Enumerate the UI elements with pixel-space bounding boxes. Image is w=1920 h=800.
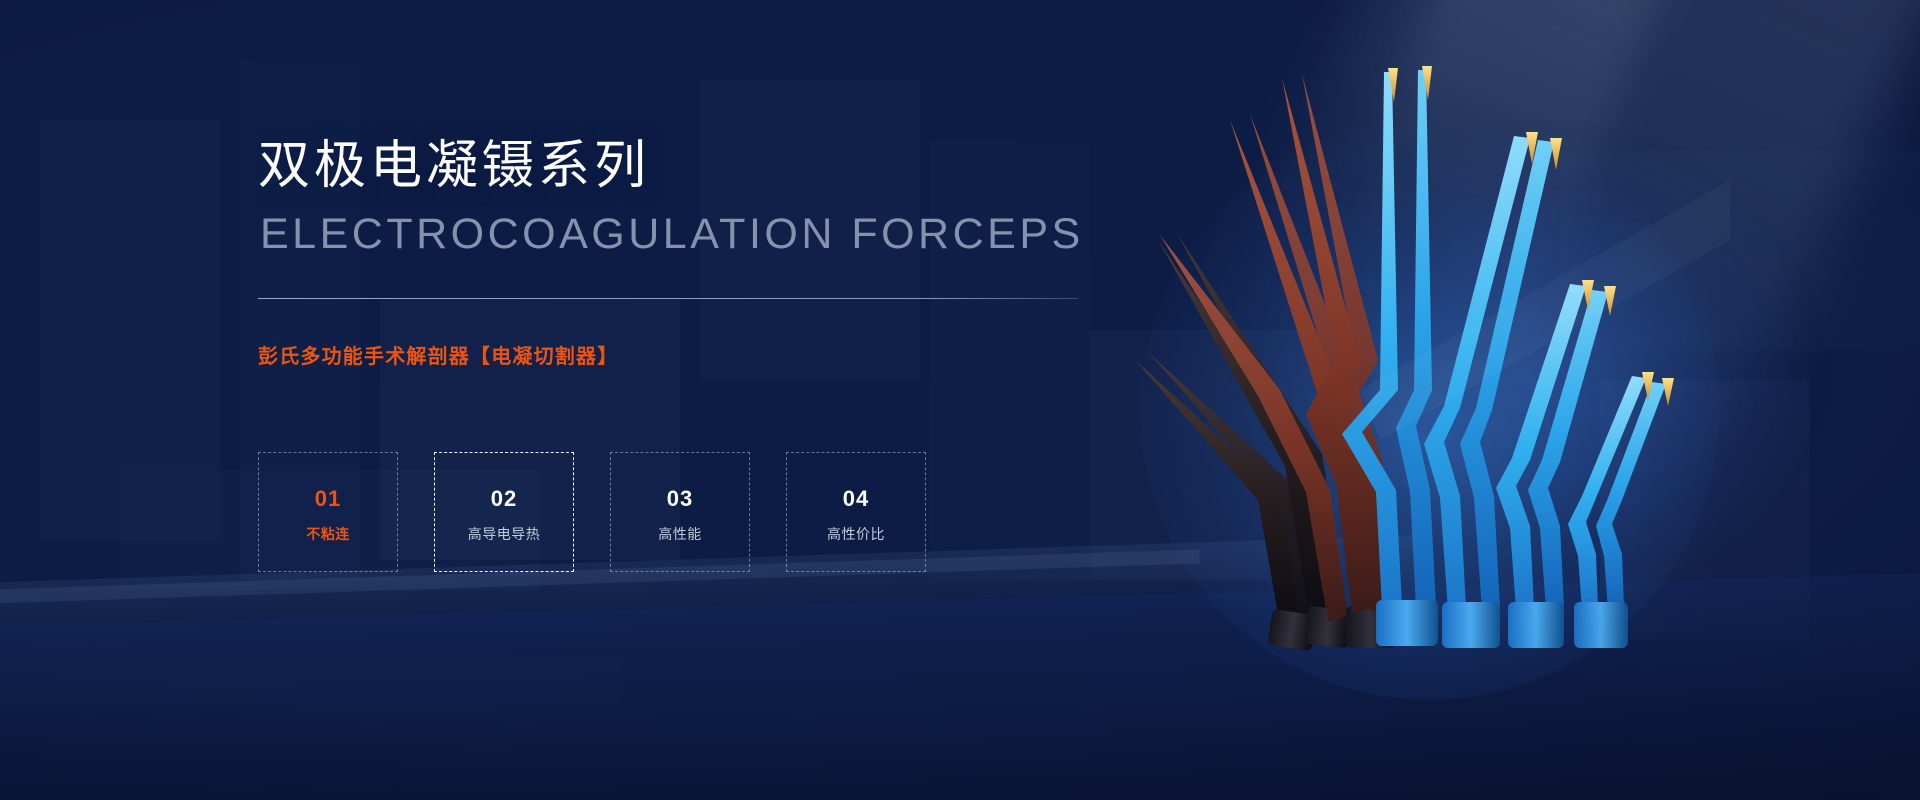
page-subtitle-english: ELECTROCOAGULATION FORCEPS: [260, 213, 1084, 256]
product-tagline: 彭氏多功能手术解剖器【电凝切割器】: [258, 340, 618, 369]
feature-card-03[interactable]: 03 高性能: [610, 452, 750, 572]
title-divider: [258, 298, 1078, 299]
feature-number: 03: [667, 488, 693, 510]
feature-label: 不粘连: [306, 527, 350, 541]
feature-number: 04: [843, 488, 869, 510]
feature-label: 高性能: [658, 527, 702, 541]
feature-card-02[interactable]: 02 高导电导热: [434, 452, 574, 572]
feature-list: 01 不粘连 02 高导电导热 03 高性能 04 高性价比: [258, 452, 926, 572]
page-title: 双极电凝镊系列: [258, 140, 650, 192]
feature-number: 02: [491, 488, 517, 510]
feature-number: 01: [315, 488, 341, 510]
feature-label: 高导电导热: [468, 527, 541, 541]
product-banner: 双极电凝镊系列 ELECTROCOAGULATION FORCEPS 彭氏多功能…: [0, 0, 1920, 800]
feature-label: 高性价比: [827, 527, 885, 541]
feature-card-01[interactable]: 01 不粘连: [258, 452, 398, 572]
banner-content: 双极电凝镊系列 ELECTROCOAGULATION FORCEPS 彭氏多功能…: [258, 0, 1158, 800]
feature-card-04[interactable]: 04 高性价比: [786, 452, 926, 572]
